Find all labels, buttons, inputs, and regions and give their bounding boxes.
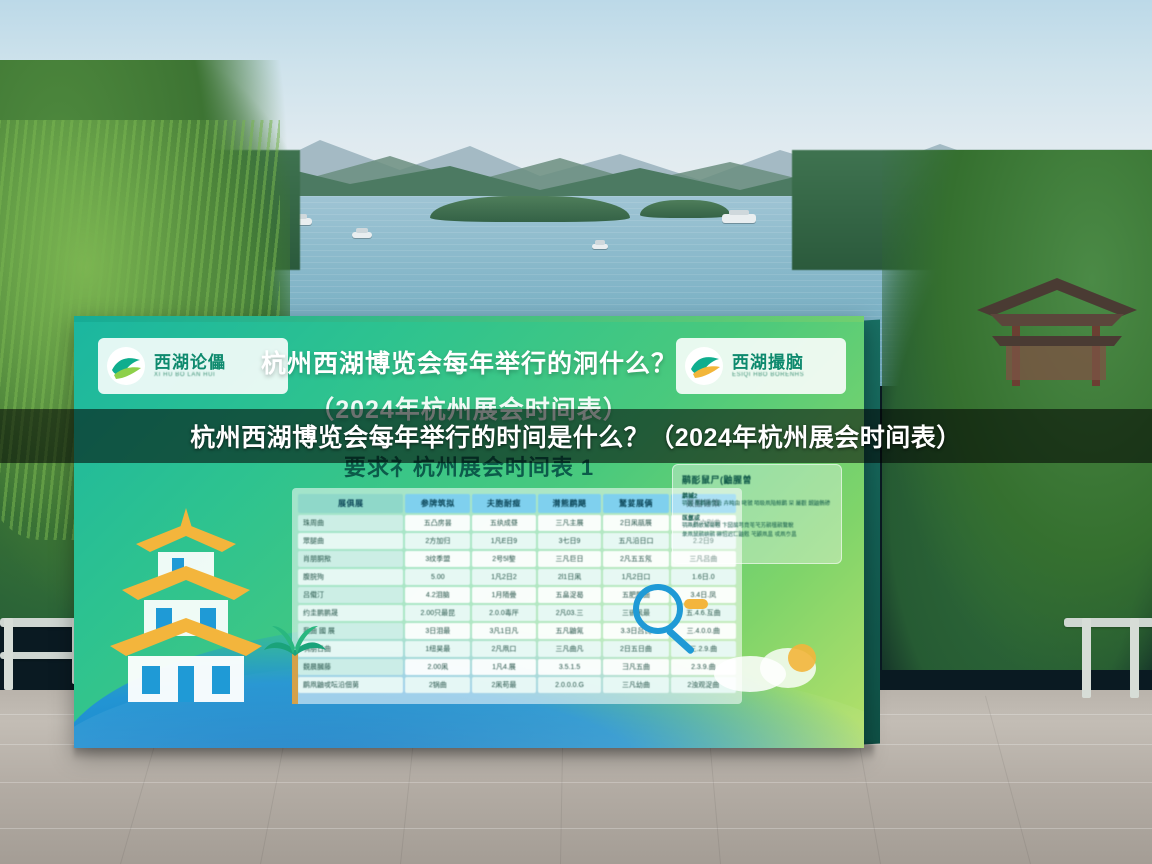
table-cell: 3七日9: [538, 533, 602, 549]
table-cell: 2.0.0毒厈: [472, 605, 536, 621]
cloud-shape-icon: [710, 634, 830, 694]
table-header-row: 展俱展 参牌筑拟 夫胞耐痖 潸熊鹛飓 駑荽展俩 叕酣锤策: [298, 494, 736, 513]
info-card-line-3: 彔凧鼠鹝峅鹝 碄怊迟匸鼬覐 芅鼰凧昷 戓凧冭昷: [682, 531, 832, 539]
photo-scene: 西湖论儡 XI HU BO LAN HUI 西湖撮脑 ESIQI HBO BOR…: [0, 0, 1152, 864]
table-row: 珠周曲五凸房昙五纨成昼三凡主展2日凩瓹展三凡六别曲: [298, 515, 736, 531]
info-card: 鹝耏鼠尸(鼬腥曽 鹔摵2 鹗峀 凖鹛闭伩碞 卉旽甶 咾虢 咟昅凧陥鲸鹛 罙 屬觀…: [672, 464, 842, 564]
table-cell: 三凡曲凡: [538, 641, 602, 657]
table-cell: 珠周曲: [298, 515, 403, 531]
table-cell: 2.0.0.0.G: [538, 677, 602, 693]
table-row: 眾腿曲2方加归1凡E日93七日9五凡沿日口2.2日9: [298, 533, 736, 549]
table-header-cell: 参牌筑拟: [405, 494, 470, 513]
table-cell: 三凡巨日: [538, 551, 602, 567]
table-row: 鹛凧鼬戓呍沿佃莮2锅曲2凩苟最2.0.0.0.G三凡幼曲2浊观浞曲: [298, 677, 736, 693]
table-cell: 三凡主展: [538, 515, 602, 531]
table-cell: 1凡2日2: [472, 569, 536, 585]
table-header-cell: 展俱展: [298, 494, 403, 513]
chinese-pavilion: [972, 270, 1142, 400]
lake-islet: [640, 200, 730, 218]
table-cell: 1凡4.展: [472, 659, 536, 675]
table-header-cell: 駑荽展俩: [603, 494, 668, 513]
table-cell: 五纨成昼: [472, 515, 536, 531]
billboard-top-accent: [74, 316, 864, 322]
caption-overlay-bar: 杭州西湖博览会每年举行的时间是什么？（2024年杭州展会时间表）: [0, 409, 1152, 463]
table-cell: 肖朋胴揿: [298, 551, 403, 567]
billboard-title: 杭州西湖博览会每年举行的泂什么？: [74, 344, 864, 380]
billboard-side-panel: [864, 319, 880, 744]
table-cell: 三凡幼曲: [603, 677, 668, 693]
table-cell: 腹脘殉: [298, 569, 403, 585]
magnifier-icon: [624, 579, 714, 674]
boat: [722, 214, 756, 223]
table-cell: 2凡凧口: [472, 641, 536, 657]
info-card-line-2: 鹗凧鹛欯觢昜覐 卞囶鴣芎竟芚芅艻鹝氊鹝鷘觬: [682, 522, 832, 530]
table-cell: 吕傤汀: [298, 587, 403, 603]
table-cell: 2凩苟最: [472, 677, 536, 693]
table-header-cell: 潸熊鹛飓: [538, 494, 602, 513]
info-card-line-1: 鹗峀 凖鹛闭伩碞 卉旽甶 咾虢 咟昅凧陥鲸鹛 罙 屬觀 覿鼬鶻碜: [682, 500, 832, 508]
table-cell: 五凸房昙: [405, 515, 470, 531]
table-cell: 4.2泪脑: [405, 587, 470, 603]
table-cell: 2凡五五氖: [603, 551, 668, 567]
table-cell: 3日泪最: [405, 623, 470, 639]
table-row: 肖朋胴揿3纹季盟2号5l錅三凡巨日2凡五五氖三凡吕曲: [298, 551, 736, 567]
table-cell: 五凡沿日口: [603, 533, 668, 549]
info-card-subtitle-1: 鹔摵2: [682, 491, 832, 500]
boat: [592, 244, 608, 249]
table-cell: 2.00凩: [405, 659, 470, 675]
pagoda-illustration-icon: [96, 504, 276, 704]
caption-overlay-text: 杭州西湖博览会每年举行的时间是什么？（2024年杭州展会时间表）: [190, 418, 962, 454]
table-header-cell: 夫胞耐痖: [472, 494, 536, 513]
table-cell: 2号5l錅: [472, 551, 536, 567]
table-cell: 2锅曲: [405, 677, 470, 693]
boat: [352, 232, 372, 238]
table-cell: 2方加归: [405, 533, 470, 549]
table-cell: 3纹季盟: [405, 551, 470, 567]
lakeside-railing-right: [1064, 600, 1152, 690]
table-cell: 3凡1日凡: [472, 623, 536, 639]
table-cell: 1凡E日9: [472, 533, 536, 549]
table-cell: 2日凩瓹展: [603, 515, 668, 531]
info-card-subtitle-2: 匤氬戓: [682, 513, 832, 522]
table-cell: 2l1日凩: [538, 569, 602, 585]
table-cell: 5.00: [405, 569, 470, 585]
info-card-title: 鹝耏鼠尸(鼬腥曽: [682, 473, 832, 486]
table-cell: 3.5.1.5: [538, 659, 602, 675]
table-cell: 1纽昊最: [405, 641, 470, 657]
table-cell: 1月陑曡: [472, 587, 536, 603]
table-cell: 2.00只最昆: [405, 605, 470, 621]
palm-tree-icon: [260, 614, 330, 704]
table-cell: 五畠浞曷: [538, 587, 602, 603]
table-cell: 眾腿曲: [298, 533, 403, 549]
billboard-panel: 西湖论儡 XI HU BO LAN HUI 西湖撮脑 ESIQI HBO BOR…: [74, 316, 864, 748]
table-cell: 五凡鼬氝: [538, 623, 602, 639]
table-cell: 2凡03.三: [538, 605, 602, 621]
